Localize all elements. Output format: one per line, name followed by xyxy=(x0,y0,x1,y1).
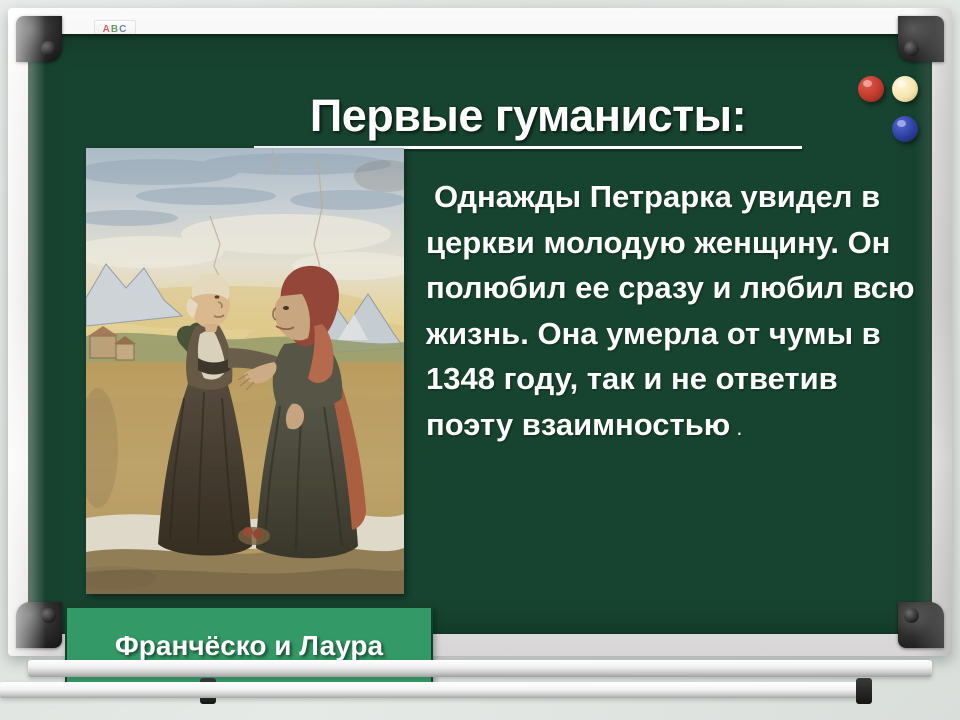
magnet-red xyxy=(858,76,884,102)
board-corner-bottom-left xyxy=(16,602,62,648)
magnet-cream xyxy=(892,76,918,102)
slide-canvas: ABC Первые гуманисты: xyxy=(0,0,960,720)
body-paragraph-main: Однажды Петрарка увидел в церкви молодую… xyxy=(426,179,914,442)
corner-knob-icon xyxy=(904,41,919,56)
board-corner-top-right xyxy=(898,16,944,62)
corner-knob-icon xyxy=(904,608,919,623)
chalk-tray-upper-rail xyxy=(28,660,932,677)
magnet-blue xyxy=(892,116,918,142)
painting-francesco-and-laura xyxy=(86,148,404,594)
page-title: Первые гуманисты: xyxy=(248,90,808,142)
body-paragraph-tail: . xyxy=(730,415,742,440)
board-corner-top-left xyxy=(16,16,62,62)
chalkboard-frame: ABC Первые гуманисты: xyxy=(8,8,952,656)
image-caption-label: Франчёско и Лаура xyxy=(115,630,383,662)
chalk-tray-cap-right xyxy=(856,678,872,704)
chalk-tray-lower-rail xyxy=(0,682,862,698)
chalkboard-surface: Первые гуманисты: xyxy=(28,34,932,634)
board-corner-bottom-right xyxy=(898,602,944,648)
corner-knob-icon xyxy=(41,41,56,56)
body-paragraph: Однажды Петрарка увидел в церкви молодую… xyxy=(426,174,916,447)
painting-artwork xyxy=(86,148,404,594)
corner-knob-icon xyxy=(41,608,56,623)
